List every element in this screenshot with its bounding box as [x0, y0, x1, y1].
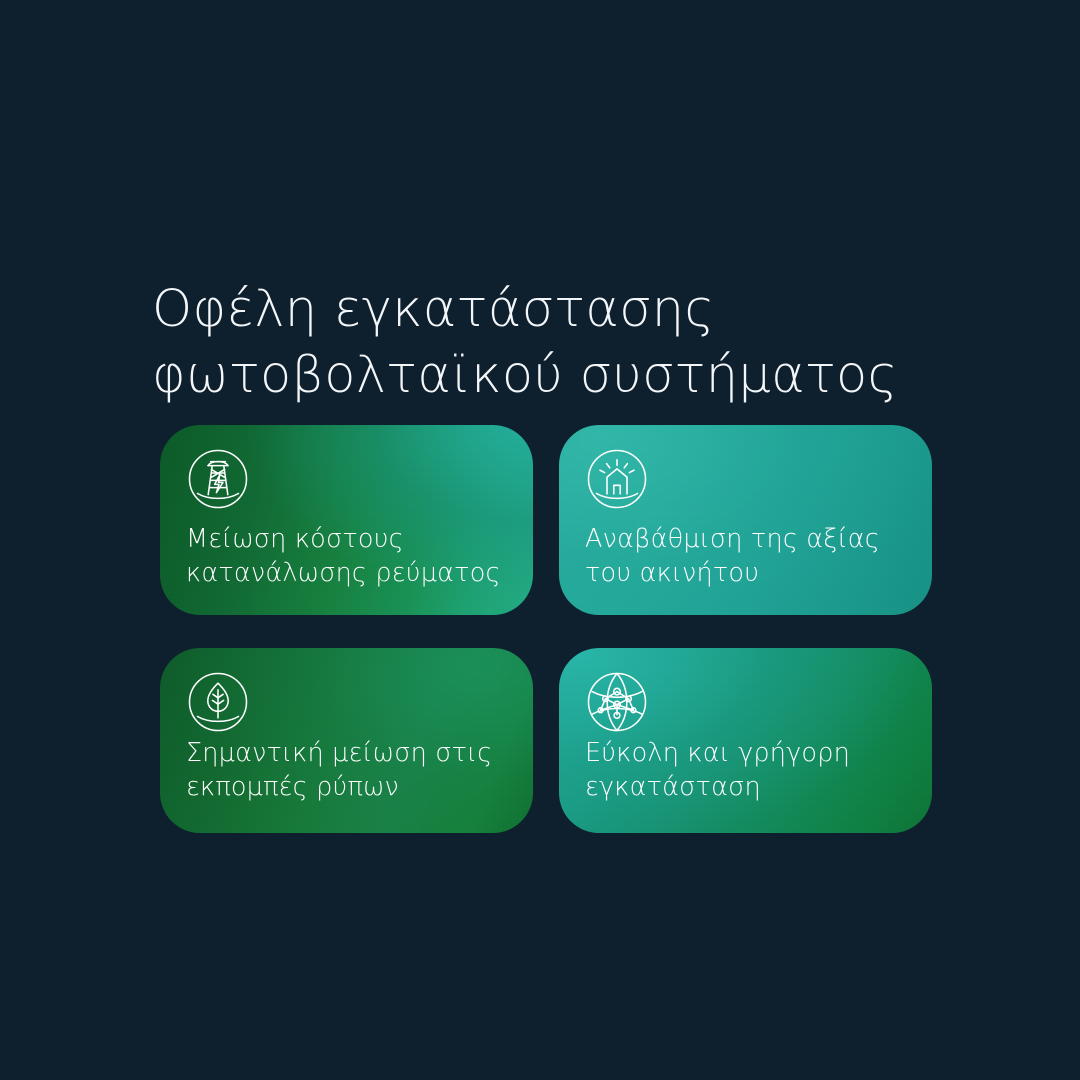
benefit-label-line-1: Μείωση κόστους: [186, 522, 507, 557]
benefit-card-emissions[interactable]: Σημαντική μείωση στις εκπομπές ρύπων: [160, 648, 533, 833]
power-pylon-icon: [186, 447, 250, 511]
page-title-line-1: Οφέλη εγκατάστασης: [152, 277, 992, 343]
benefit-label-line-1: Σημαντική μείωση στις: [186, 736, 507, 771]
page-title-line-2: φωτοβολταϊκού συστήματος: [152, 343, 992, 409]
benefit-card-label: Μείωση κόστους κατανάλωσης ρεύματος: [186, 522, 507, 591]
poster-canvas: Οφέλη εγκατάστασης φωτοβολταϊκού συστήμα…: [0, 0, 1080, 1080]
benefits-card-grid: Μείωση κόστους κατανάλωσης ρεύματος: [160, 425, 932, 833]
shining-house-icon: [585, 447, 649, 511]
network-globe-icon: [585, 670, 649, 734]
benefit-card-easy-install[interactable]: Εύκολη και γρήγορη εγκατάσταση: [559, 648, 932, 833]
benefit-label-line-2: κατανάλωσης ρεύματος: [186, 556, 507, 591]
benefit-label-line-1: Αναβάθμιση της αξίας: [585, 522, 906, 557]
benefit-card-property-value[interactable]: Αναβάθμιση της αξίας του ακινήτου: [559, 425, 932, 615]
page-title: Οφέλη εγκατάστασης φωτοβολταϊκού συστήμα…: [152, 277, 992, 410]
benefit-label-line-1: Εύκολη και γρήγορη: [585, 736, 906, 771]
benefit-card-label: Εύκολη και γρήγορη εγκατάσταση: [585, 736, 906, 805]
leaf-sprout-icon: [186, 670, 250, 734]
benefit-card-cost-reduction[interactable]: Μείωση κόστους κατανάλωσης ρεύματος: [160, 425, 533, 615]
benefit-card-label: Αναβάθμιση της αξίας του ακινήτου: [585, 522, 906, 591]
benefit-card-label: Σημαντική μείωση στις εκπομπές ρύπων: [186, 736, 507, 805]
benefit-label-line-2: του ακινήτου: [585, 556, 906, 591]
benefit-label-line-2: εκπομπές ρύπων: [186, 770, 507, 805]
benefit-label-line-2: εγκατάσταση: [585, 770, 906, 805]
